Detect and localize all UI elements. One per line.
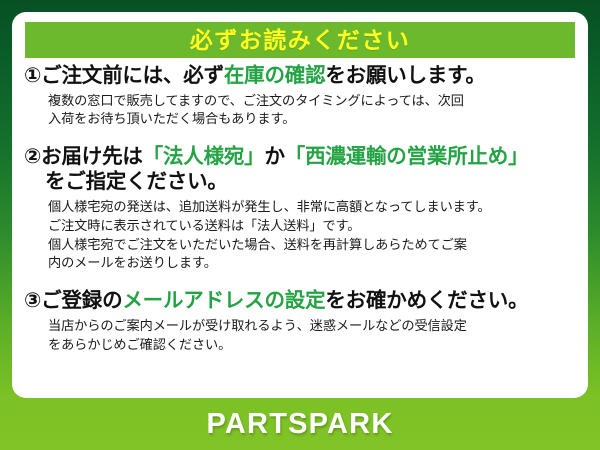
- item-number-2: ②: [24, 145, 41, 168]
- footer-brand-band: PARTSPARK: [0, 398, 600, 450]
- page-title: 必ずお読みください: [190, 29, 411, 52]
- item-number-3: ③: [24, 289, 41, 312]
- item-1-body-line-2: 入荷をお待ち頂いただく場合もあります。: [48, 110, 582, 129]
- notice-item-3-body: 当店からのご案内メールが受け取れるよう、迷惑メールなどの受信設定 をあらかじめご…: [12, 317, 588, 354]
- notice-card: 必ずお読みください ①ご注文前には、必ず在庫の確認をお願いします。 複数の窓口で…: [12, 12, 588, 398]
- item-2-heading-highlight-1: 「法人様宛」: [143, 145, 265, 168]
- item-2-body-line-4: 内のメールをお送りします。: [48, 254, 582, 273]
- item-2-heading-part-1: お届け先は: [41, 145, 143, 168]
- item-2-heading-part-3: か: [264, 145, 284, 168]
- notice-item-2-heading-line2: をご指定ください。: [12, 170, 588, 195]
- item-1-body-line-1: 複数の窓口で販売してますので、ご注文のタイミングによっては、次回: [48, 92, 582, 111]
- notice-item-2-heading: ②お届け先は「法人様宛」か「西濃運輸の営業所止め」: [12, 145, 588, 170]
- notice-item-2-body: 個人様宅宛の発送は、追加送料が発生し、非常に高額となってしまいます。 ご注文時に…: [12, 198, 588, 273]
- notice-items-list: ①ご注文前には、必ず在庫の確認をお願いします。 複数の窓口で販売してますので、ご…: [12, 64, 588, 354]
- notice-item-2: ②お届け先は「法人様宛」か「西濃運輸の営業所止め」 をご指定ください。 個人様宅…: [12, 145, 588, 273]
- item-1-heading-highlight: 在庫の確認: [224, 64, 326, 87]
- item-2-body-line-3: 個人様宅宛でご注文をいただいた場合、送料を再計算しあらためてご案: [48, 236, 582, 255]
- item-1-heading-part-3: をお願いします。: [325, 64, 485, 87]
- notice-header-banner: 必ずお読みください: [25, 22, 575, 58]
- item-number-1: ①: [24, 64, 41, 87]
- notice-item-1-heading: ①ご注文前には、必ず在庫の確認をお願いします。: [12, 64, 588, 89]
- item-2-body-line-2: ご注文時に表示されている送料は「法人送料」です。: [48, 217, 582, 236]
- item-3-body-line-1: 当店からのご案内メールが受け取れるよう、迷惑メールなどの受信設定: [48, 317, 582, 336]
- item-3-body-line-2: をあらかじめご確認ください。: [48, 336, 582, 355]
- brand-name: PARTSPARK: [207, 410, 394, 439]
- item-3-heading-part-1: ご登録の: [41, 289, 122, 312]
- notice-item-1-body: 複数の窓口で販売してますので、ご注文のタイミングによっては、次回 入荷をお待ち頂…: [12, 92, 588, 129]
- item-1-heading-part-1: ご注文前には、必ず: [41, 64, 224, 87]
- item-2-body-line-1: 個人様宅宛の発送は、追加送料が発生し、非常に高額となってしまいます。: [48, 198, 582, 217]
- notice-item-3: ③ご登録のメールアドレスの設定をお確かめください。 当店からのご案内メールが受け…: [12, 289, 588, 354]
- notice-item-3-heading: ③ご登録のメールアドレスの設定をお確かめください。: [12, 289, 588, 314]
- item-2-heading-highlight-2: 「西濃運輸の営業所止め」: [285, 145, 529, 168]
- item-3-heading-highlight: メールアドレスの設定: [122, 289, 325, 312]
- notice-item-1: ①ご注文前には、必ず在庫の確認をお願いします。 複数の窓口で販売してますので、ご…: [12, 64, 588, 129]
- item-3-heading-part-3: をお確かめください。: [325, 289, 528, 312]
